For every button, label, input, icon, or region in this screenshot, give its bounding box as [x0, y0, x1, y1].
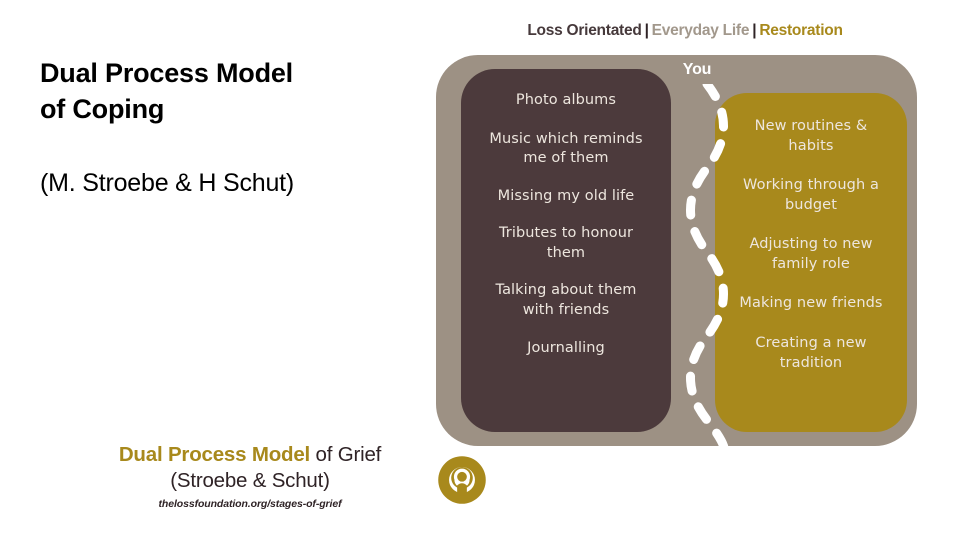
diagram-caption: Dual Process Model of Grief (Stroebe & S…	[40, 443, 460, 510]
list-item: Adjusting to new family role	[725, 235, 897, 274]
list-item: Photo albums	[473, 91, 659, 111]
restoration-panel: New routines & habits Working through a …	[715, 93, 907, 432]
caption-title-rest: of Grief	[310, 443, 381, 466]
list-item: Missing my old life	[473, 187, 659, 207]
loss-foundation-logo-icon	[435, 453, 489, 507]
caption-title: Dual Process Model of Grief	[40, 443, 460, 467]
diagram-legend: Loss Orientated|Everyday Life|Restoratio…	[430, 22, 940, 40]
legend-separator-1: |	[645, 22, 649, 40]
caption-title-highlight: Dual Process Model	[119, 443, 310, 466]
list-item: Making new friends	[725, 294, 897, 314]
list-item: Talking about them with friends	[473, 281, 659, 320]
everyday-life-container: Photo albums Music which reminds me of t…	[436, 55, 917, 446]
loss-orientated-panel: Photo albums Music which reminds me of t…	[461, 69, 671, 432]
caption-authors: (Stroebe & Schut)	[40, 468, 460, 494]
list-item: Journalling	[473, 339, 659, 359]
legend-separator-2: |	[752, 22, 756, 40]
list-item: New routines & habits	[725, 117, 897, 156]
list-item: Music which reminds me of them	[473, 130, 659, 169]
you-label: You	[658, 61, 736, 79]
page-subtitle: (M. Stroebe & H Schut)	[40, 167, 420, 200]
legend-item-everyday-life: Everyday Life	[652, 22, 750, 40]
list-item: Working through a budget	[725, 176, 897, 215]
slide-text-block: Dual Process Model of Coping (M. Stroebe…	[40, 56, 420, 200]
page-title: Dual Process Model of Coping	[40, 56, 420, 127]
list-item: Creating a new tradition	[725, 334, 897, 373]
list-item: Tributes to honour them	[473, 224, 659, 263]
legend-item-loss-orientated: Loss Orientated	[527, 22, 641, 40]
legend-item-restoration: Restoration	[759, 22, 842, 40]
caption-url: thelossfoundation.org/stages-of-grief	[40, 498, 460, 510]
dual-process-model-diagram: Loss Orientated|Everyday Life|Restoratio…	[430, 14, 940, 529]
